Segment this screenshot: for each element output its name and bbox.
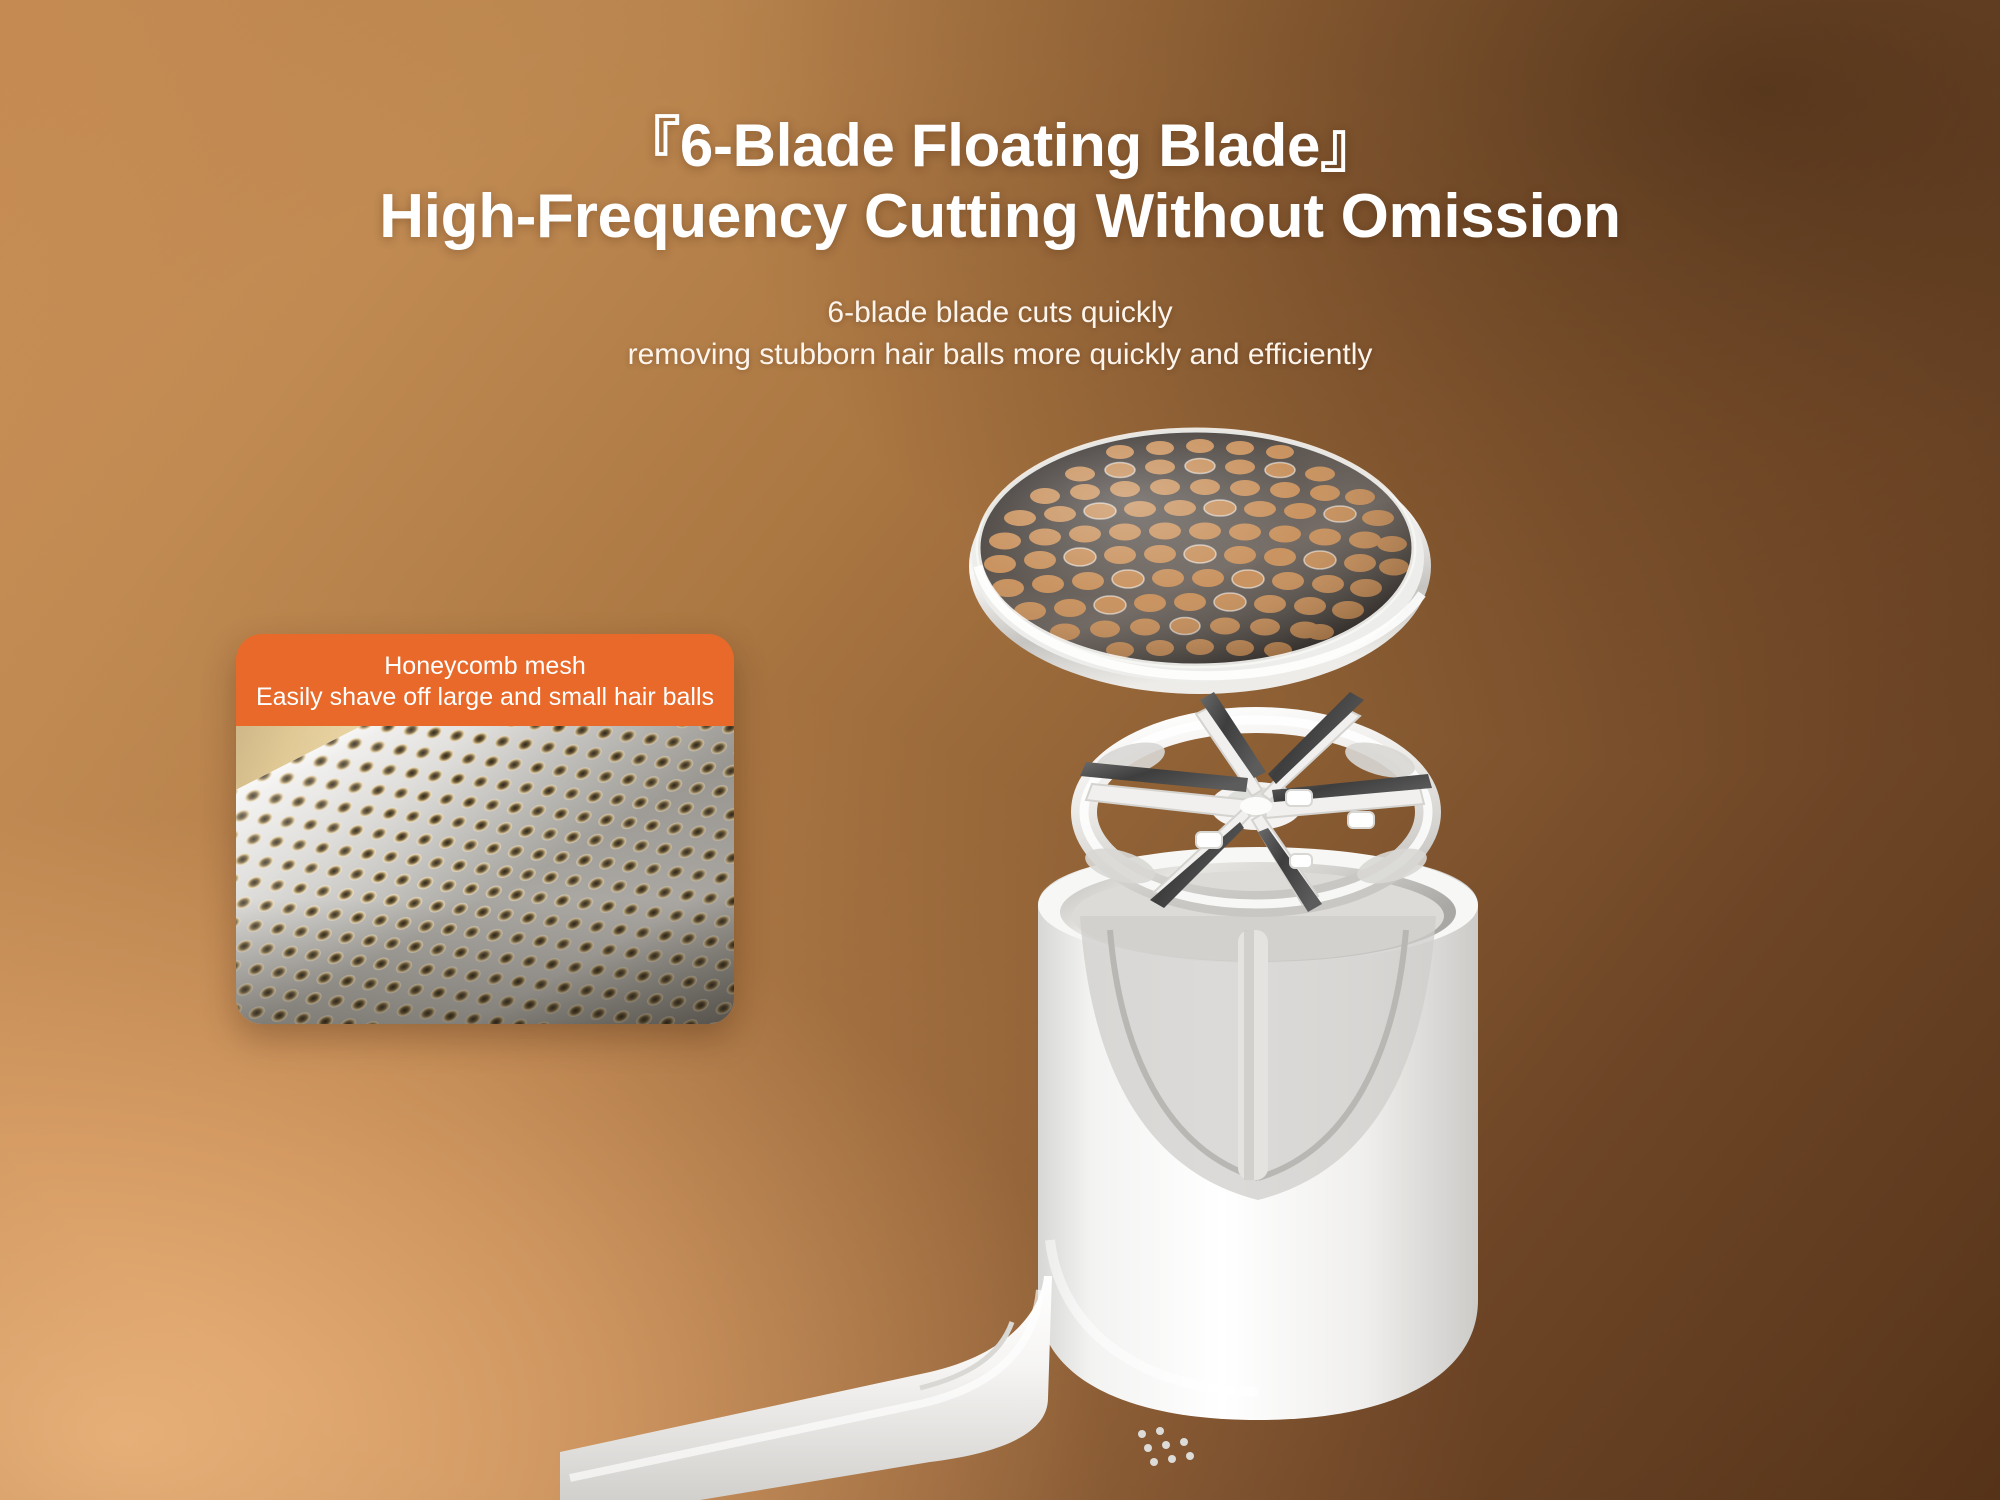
photo-bottom-shadow [236,726,734,1024]
honeycomb-feature-card: Honeycomb mesh Easily shave off large an… [236,634,734,1024]
feature-card-caption-line-2: Easily shave off large and small hair ba… [256,682,714,714]
feature-card-caption-line-1: Honeycomb mesh [384,651,585,683]
subtitle-block: 6-blade blade cuts quickly removing stub… [0,292,2000,377]
headline-line-2: High-Frequency Cutting Without Omission [0,182,2000,252]
honeycomb-mesh-photo [236,726,734,1024]
subtitle-line-2: removing stubborn hair balls more quickl… [0,334,2000,377]
subtitle-line-1: 6-blade blade cuts quickly [0,292,2000,335]
headline-line-1: 『6-Blade Floating Blade』 [0,112,2000,180]
header-block: 『6-Blade Floating Blade』 High-Frequency … [0,112,2000,377]
feature-card-caption: Honeycomb mesh Easily shave off large an… [236,634,734,726]
